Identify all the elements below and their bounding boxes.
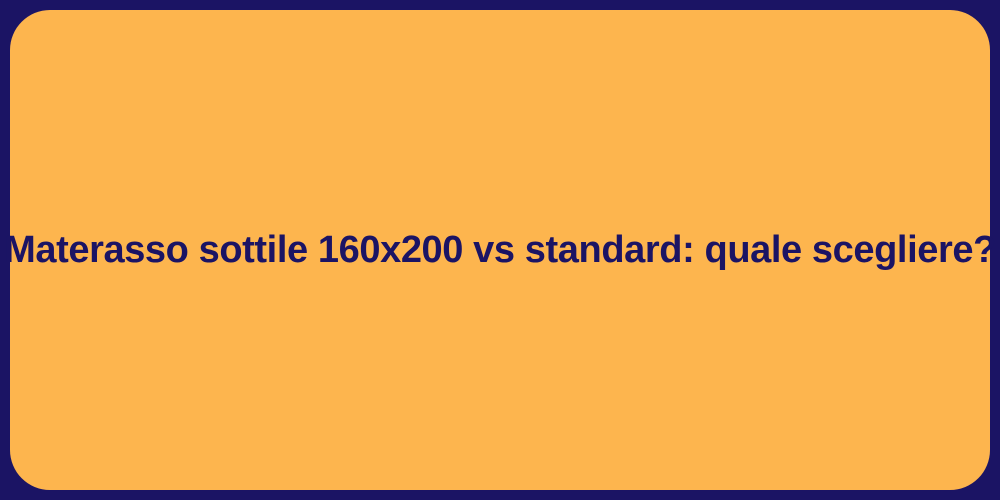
banner-title: Materasso sottile 160x200 vs standard: q…: [4, 228, 996, 273]
banner-card: Materasso sottile 160x200 vs standard: q…: [10, 10, 990, 490]
banner-frame: Materasso sottile 160x200 vs standard: q…: [0, 0, 1000, 500]
